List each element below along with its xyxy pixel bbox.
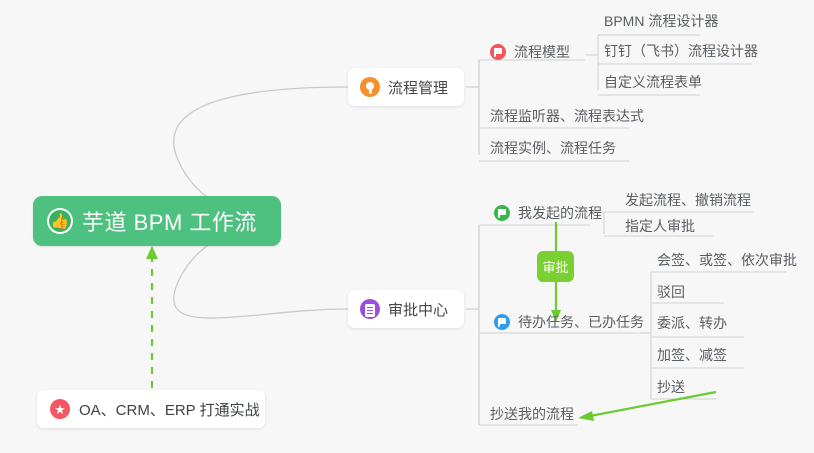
node-label-todo-done-tasks: 待办任务、已办任务 <box>518 312 644 332</box>
approval-badge: 审批 <box>537 251 574 282</box>
node-label-start-cancel: 发起流程、撤销流程 <box>625 190 751 210</box>
mindmap-canvas: 👍 芋道 BPM 工作流 流程管理 流程模型 BPMN 流程设计器 钉钉（飞书）… <box>0 0 814 453</box>
node-cc[interactable]: 抄送 <box>657 377 685 401</box>
clipboard-icon <box>360 299 380 319</box>
node-label-my-initiated: 我发起的流程 <box>518 203 602 223</box>
star-icon: ★ <box>50 399 70 419</box>
thumbs-up-icon: 👍 <box>47 208 73 234</box>
node-listener-expression[interactable]: 流程监听器、流程表达式 <box>490 106 644 130</box>
node-delegate-transfer[interactable]: 委派、转办 <box>657 313 727 337</box>
root-node-label: 芋道 BPM 工作流 <box>82 205 257 237</box>
node-custom-form[interactable]: 自定义流程表单 <box>604 72 702 96</box>
node-label-custom-form: 自定义流程表单 <box>604 72 702 92</box>
flag-icon <box>490 44 506 60</box>
node-label-cc-to-me: 抄送我的流程 <box>490 404 574 424</box>
node-label-add-remove-sign: 加签、减签 <box>657 345 727 365</box>
node-my-initiated[interactable]: 我发起的流程 <box>494 203 602 227</box>
node-label-reject: 驳回 <box>657 282 685 302</box>
cc-flow-arrow <box>578 392 716 421</box>
node-label-countersign: 会签、或签、依次审批 <box>657 250 797 270</box>
node-add-remove-sign[interactable]: 加签、减签 <box>657 345 727 369</box>
node-reject[interactable]: 驳回 <box>657 282 685 306</box>
callout-integration[interactable]: ★ OA、CRM、ERP 打通实战 <box>37 390 265 428</box>
node-bpmn-designer[interactable]: BPMN 流程设计器 <box>604 11 718 35</box>
branch-label-approval-center: 审批中心 <box>388 299 448 320</box>
node-label-assignee-approval: 指定人审批 <box>625 216 695 236</box>
node-countersign[interactable]: 会签、或签、依次审批 <box>657 250 797 274</box>
node-label-listener-expression: 流程监听器、流程表达式 <box>490 106 644 126</box>
node-process-model[interactable]: 流程模型 <box>490 42 570 66</box>
node-label-delegate-transfer: 委派、转办 <box>657 313 727 333</box>
node-assignee-approval[interactable]: 指定人审批 <box>625 216 695 240</box>
callout-dashed-arrow <box>146 246 158 388</box>
flag-icon <box>494 205 510 221</box>
branch-label-process-management: 流程管理 <box>388 77 448 98</box>
flag-icon <box>494 314 510 330</box>
callout-label: OA、CRM、ERP 打通实战 <box>79 399 260 420</box>
node-label-instance-task: 流程实例、流程任务 <box>490 138 616 158</box>
node-label-cc: 抄送 <box>657 377 685 397</box>
node-label-dingtalk-designer: 钉钉（飞书）流程设计器 <box>604 41 758 61</box>
node-dingtalk-designer[interactable]: 钉钉（飞书）流程设计器 <box>604 41 758 65</box>
node-label-bpmn-designer: BPMN 流程设计器 <box>604 11 718 31</box>
node-instance-task[interactable]: 流程实例、流程任务 <box>490 138 616 162</box>
node-start-cancel[interactable]: 发起流程、撤销流程 <box>625 190 751 214</box>
branch-node-process-management[interactable]: 流程管理 <box>348 68 464 106</box>
root-node[interactable]: 👍 芋道 BPM 工作流 <box>33 196 281 246</box>
branch-node-approval-center[interactable]: 审批中心 <box>348 290 464 328</box>
node-label-process-model: 流程模型 <box>514 42 570 62</box>
pin-icon <box>360 77 380 97</box>
node-todo-done-tasks[interactable]: 待办任务、已办任务 <box>494 312 644 336</box>
node-cc-to-me[interactable]: 抄送我的流程 <box>490 404 574 428</box>
